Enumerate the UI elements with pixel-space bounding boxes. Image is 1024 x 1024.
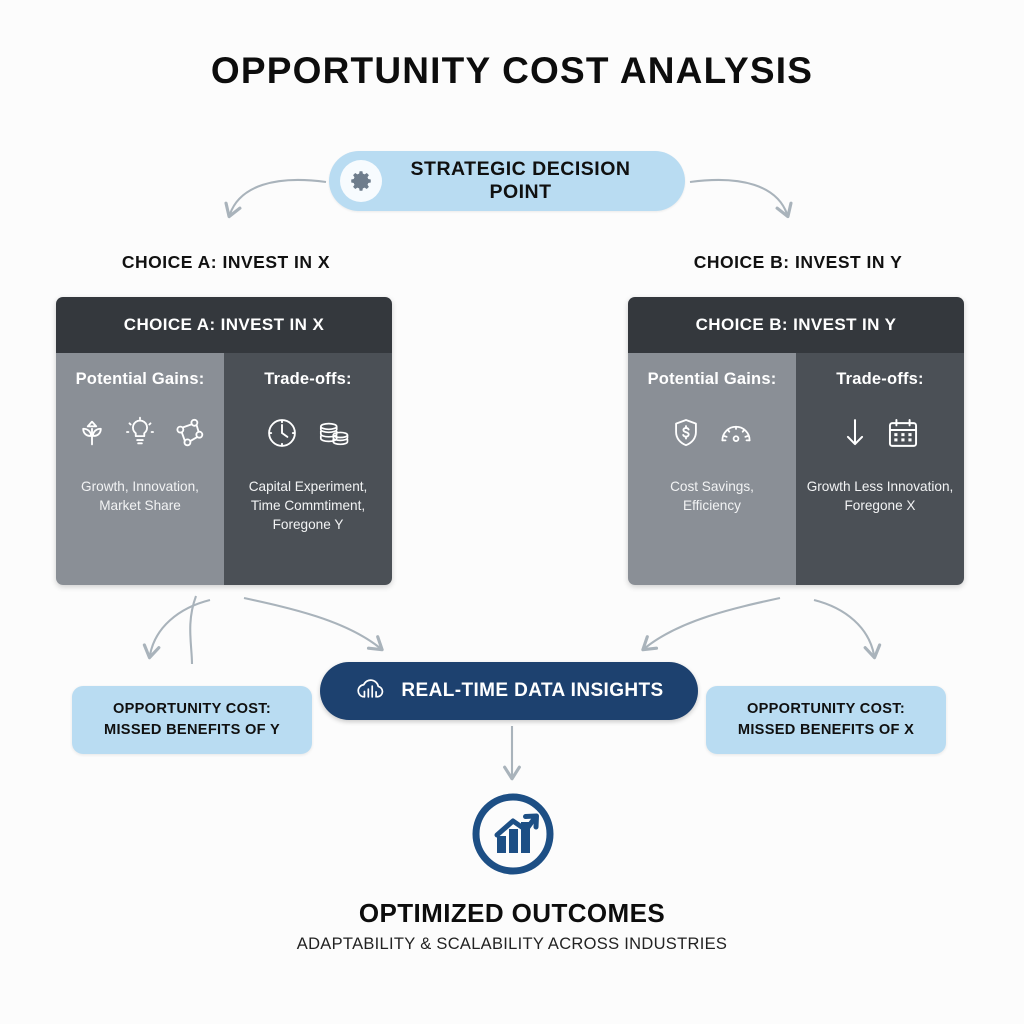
outcome-subtitle: ADAPTABILITY & SCALABILITY ACROSS INDUST… [0,935,1024,954]
arrow-card-b-to-insights [645,598,780,648]
choice-a-tradeoffs-text: Capital Experiment, Time Commtiment, For… [249,478,368,534]
choice-a-gains-text: Growth, Innovation, Market Share [81,478,199,516]
opportunity-cost-right-box[interactable]: OPPORTUNITY COST: MISSED BENEFITS OF X [706,686,946,754]
choice-b-tradeoffs-text: Growth Less Innovation, Foregone X [807,478,954,516]
choice-b-gains-text: Cost Savings, Efficiency [670,478,754,516]
real-time-data-insights-pill[interactable]: REAL-TIME DATA INSIGHTS [320,662,698,720]
choice-b-tradeoffs-icons [839,410,921,456]
arrow-card-a-to-oc-left-curve [150,600,210,655]
choice-a-card-body: Potential Gains: [56,353,392,585]
shield-dollar-icon [669,415,703,451]
choice-a-tradeoffs-icons [264,410,352,456]
choice-b-gains-pane: Potential Gains: [628,353,796,585]
opportunity-cost-left-box[interactable]: OPPORTUNITY COST: MISSED BENEFITS OF Y [72,686,312,754]
choice-b-card[interactable]: CHOICE B: INVEST IN Y Potential Gains: [628,297,964,585]
choice-b-card-header: CHOICE B: INVEST IN Y [628,297,964,353]
choice-a-gains-title: Potential Gains: [76,370,205,389]
choice-a-card-header: CHOICE A: INVEST IN X [56,297,392,353]
down-arrow-icon [839,415,871,451]
choice-a-gains-icons [75,410,205,456]
arrow-decision-to-choice-b [690,180,787,214]
choice-b-card-body: Potential Gains: [628,353,964,585]
outcome-title: OPTIMIZED OUTCOMES [0,898,1024,929]
calendar-icon [885,415,921,451]
page-title: OPPORTUNITY COST ANALYSIS [0,50,1024,92]
strategic-decision-label: STRATEGIC DECISION POINT [382,158,685,204]
choice-b-gains-icons [669,410,755,456]
coins-stack-icon [314,416,352,450]
choice-a-tradeoffs-pane: Trade-offs: [224,353,392,585]
sprout-growth-icon [75,416,109,450]
bar-chart-uptrend-circle-icon [468,789,558,879]
choice-b-tradeoffs-title: Trade-offs: [836,370,923,389]
arrow-card-a-to-insights [244,598,380,648]
clock-icon [264,415,300,451]
arrow-card-b-to-oc-right [814,600,874,655]
network-nodes-icon [171,416,205,450]
choice-b-tradeoffs-pane: Trade-offs: [796,353,964,585]
gear-icon [340,160,382,202]
choice-b-outer-label: CHOICE B: INVEST IN Y [628,252,968,273]
outcome-footer: OPTIMIZED OUTCOMES ADAPTABILITY & SCALAB… [0,898,1024,954]
lightbulb-icon [123,416,157,450]
choice-a-outer-label: CHOICE A: INVEST IN X [56,252,396,273]
choice-a-tradeoffs-title: Trade-offs: [264,370,351,389]
real-time-data-insights-label: REAL-TIME DATA INSIGHTS [401,680,663,702]
choice-a-card[interactable]: CHOICE A: INVEST IN X Potential Gains: [56,297,392,585]
diagram-canvas: OPPORTUNITY COST ANALYSIS STRATEGIC DECI… [0,0,1024,1024]
choice-b-gains-title: Potential Gains: [648,370,777,389]
cloud-data-icon [354,675,388,708]
arrow-decision-to-choice-a [230,180,326,214]
speedometer-icon [717,416,755,450]
arrow-card-a-to-oc-left [190,596,196,664]
choice-a-gains-pane: Potential Gains: [56,353,224,585]
strategic-decision-pill[interactable]: STRATEGIC DECISION POINT [329,151,685,211]
